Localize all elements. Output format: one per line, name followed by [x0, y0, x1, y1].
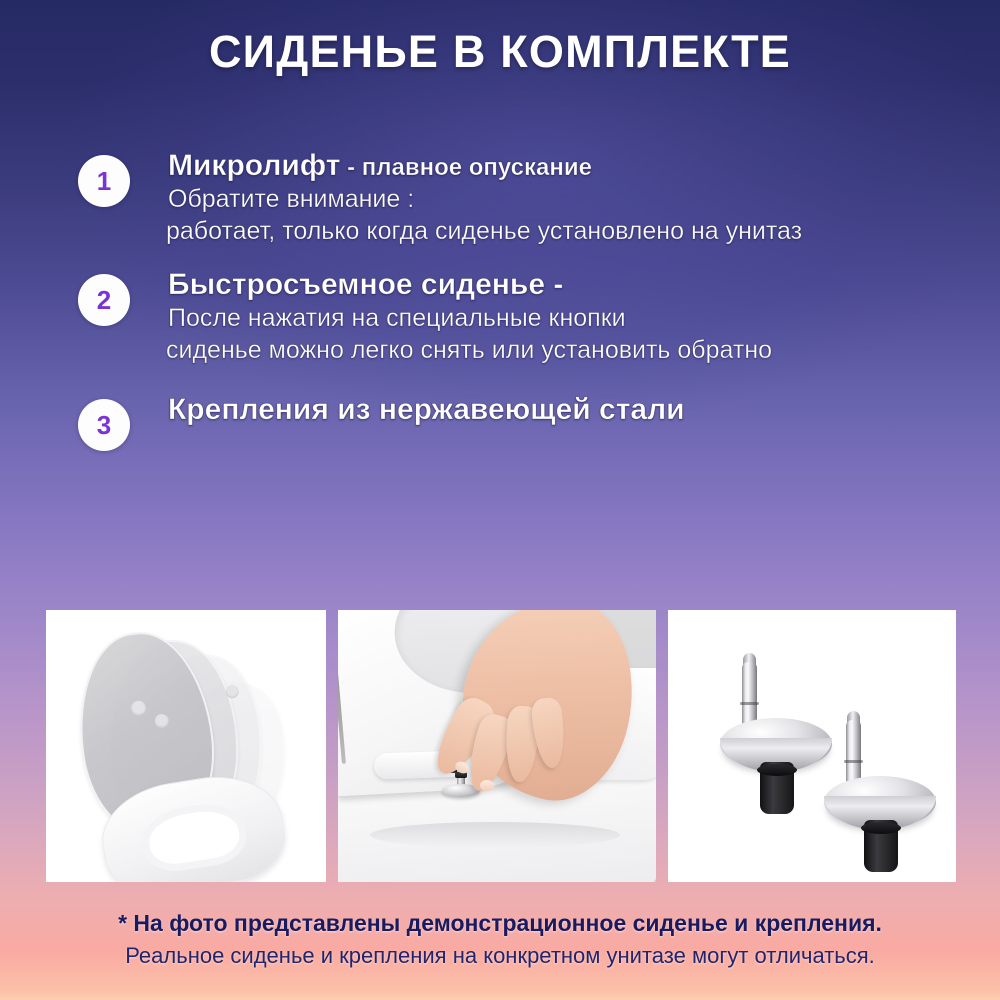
feature-heading-lead-3: Крепления из нержавеющей стали — [168, 393, 685, 426]
bolt-rubber-plug — [864, 820, 898, 872]
seat-bumper-icon — [130, 700, 147, 717]
photo-strip — [46, 610, 956, 882]
feature-heading-lead-1: Микролифт — [168, 149, 340, 182]
features-list: 1 Микролифт - плавное опускание Обратите… — [0, 150, 1000, 472]
feature-number-badge-1: 1 — [78, 155, 130, 207]
seat-illustration — [46, 610, 326, 882]
promo-banner: СИДЕНЬЕ В КОМПЛЕКТЕ 1 Микролифт - плавно… — [0, 0, 1000, 1000]
quick-release-hand-photo — [338, 610, 656, 882]
feature-subline-1-2: работает, только когда сиденье установле… — [166, 216, 1000, 247]
feature-item-2: 2 Быстросъемное сиденье - После нажатия … — [0, 269, 1000, 366]
fixings-illustration — [668, 610, 956, 882]
feature-number-badge-2: 2 — [78, 274, 130, 326]
toilet-installation-illustration — [338, 610, 656, 882]
feature-number-badge-3: 3 — [78, 399, 130, 451]
stainless-fixings-photo — [668, 610, 956, 882]
feature-subline-2-2: сиденье можно легко снять или установить… — [166, 335, 1000, 366]
feature-heading-tail-1: - плавное опускание — [340, 154, 592, 181]
feature-heading-1: Микролифт - плавное опускание — [168, 150, 1000, 182]
feature-heading-lead-2: Быстросъемное сиденье - — [168, 268, 563, 301]
footnote-line-2: Реальное сиденье и крепления на конкретн… — [0, 941, 1000, 970]
feature-heading-3: Крепления из нержавеющей стали — [168, 394, 1000, 426]
feature-heading-2: Быстросъемное сиденье - — [168, 269, 1000, 301]
page-title: СИДЕНЬЕ В КОМПЛЕКТЕ — [0, 26, 1000, 78]
feature-item-3: 3 Крепления из нержавеющей стали — [0, 394, 1000, 454]
feature-subline-1-1: Обратите внимание : — [168, 184, 1000, 215]
feature-subline-2-1: После нажатия на специальные кнопки — [168, 303, 1000, 334]
fingernail — [480, 780, 494, 791]
footnote-line-1: * На фото представлены демонстрационное … — [0, 908, 1000, 938]
bolt-seam — [844, 760, 863, 763]
bolt-seam — [740, 702, 759, 705]
toilet-seat-softclose-photo — [46, 610, 326, 882]
feature-item-1: 1 Микролифт - плавное опускание Обратите… — [0, 150, 1000, 247]
bolt-rubber-plug — [760, 762, 794, 814]
seat-bumper-icon — [154, 713, 170, 729]
footnotes: * На фото представлены демонстрационное … — [0, 908, 1000, 970]
